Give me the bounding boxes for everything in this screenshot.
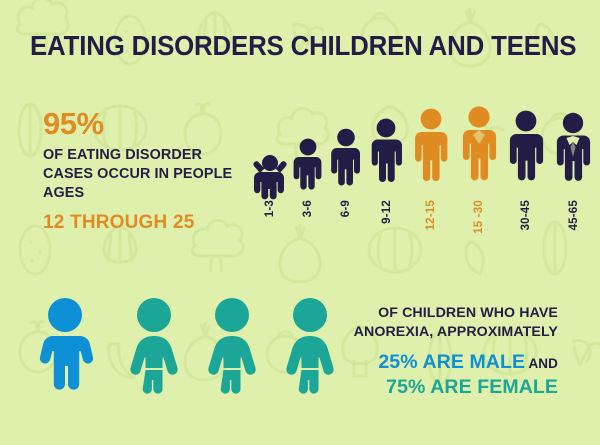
age-figure-3-6	[293, 138, 323, 200]
gender-figure-male-1	[34, 298, 96, 396]
age-label-3-6: 3-6	[302, 200, 314, 217]
age-label-9-12: 9-12	[381, 200, 393, 224]
age-label-6-9: 6-9	[340, 200, 352, 217]
age-figure-6-9	[330, 128, 362, 200]
gender-female-stat: 75% ARE FEMALE	[318, 375, 558, 400]
statistic-block: 95% OF EATING DISORDER CASES OCCUR IN PE…	[43, 108, 253, 234]
statistic-age-range: 12 THROUGH 25	[43, 212, 253, 234]
gender-lead-line-1: OF CHILDREN WHO HAVE	[318, 304, 558, 323]
gender-lead-line-2: ANOREXIA, APPROXIMATELY	[318, 323, 558, 342]
age-label-12-15: 12-15	[425, 200, 437, 230]
age-figure-9-12	[369, 118, 405, 200]
gender-figure-female-1	[123, 298, 185, 396]
gender-pictogram-row	[34, 296, 344, 396]
age-label-1-3: 1-3	[264, 200, 276, 217]
age-figure-30-45	[505, 110, 547, 200]
page-title: EATING DISORDERS CHILDREN AND TEENS	[30, 30, 576, 62]
age-label-45-65: 45-65	[568, 200, 580, 230]
age-label-row: 1-3 3-6 6-9 9-12 12-15 15 -30 30-45 45-6…	[252, 200, 592, 250]
age-figure-15-30	[458, 106, 500, 200]
statistic-description: OF EATING DISORDER CASES OCCUR IN PEOPLE…	[43, 146, 253, 203]
age-pictogram-row	[252, 100, 592, 200]
age-label-15-30: 15 -30	[473, 200, 485, 234]
age-label-30-45: 30-45	[520, 200, 532, 230]
gender-lead-text: OF CHILDREN WHO HAVE ANOREXIA, APPROXIMA…	[318, 304, 558, 343]
gender-figure-female-2	[201, 298, 263, 396]
age-figure-45-65	[552, 112, 594, 200]
gender-conjunction: AND	[525, 356, 558, 371]
gender-statistic-text: OF CHILDREN WHO HAVE ANOREXIA, APPROXIMA…	[318, 304, 558, 400]
age-figure-12-15	[411, 108, 451, 200]
gender-male-line: 25% ARE MALE AND	[318, 350, 558, 375]
gender-male-stat: 25% ARE MALE	[378, 351, 525, 373]
statistic-percent: 95%	[43, 108, 253, 139]
infographic-canvas: EATING DISORDERS CHILDREN AND TEENS 95% …	[0, 0, 600, 445]
age-figure-1-3	[252, 152, 288, 200]
